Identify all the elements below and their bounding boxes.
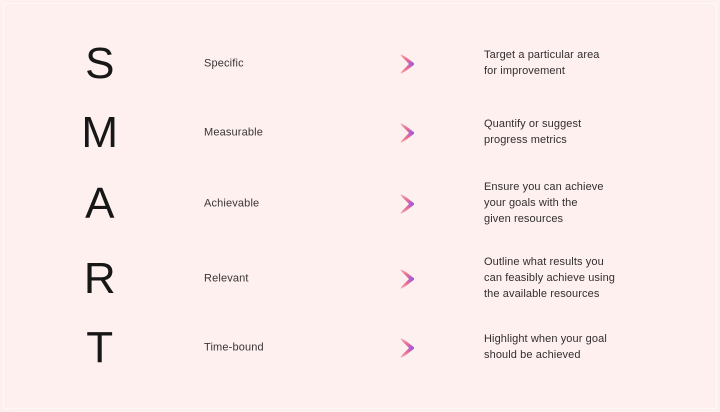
- description-line: the available resources: [484, 287, 664, 303]
- description-line: Target a particular area: [484, 48, 664, 64]
- smart-description-relevant: Outline what results youcan feasibly ach…: [484, 255, 664, 303]
- arrow-right-icon: [331, 335, 425, 361]
- description-line: given resources: [484, 212, 664, 228]
- smart-label-achievable: Achievable: [204, 197, 324, 212]
- description-line: Outline what results you: [484, 255, 664, 271]
- smart-rows: SSpecificTarget a particular areafor imp…: [0, 0, 720, 412]
- smart-label-measurable: Measurable: [204, 126, 324, 141]
- description-line: your goals with the: [484, 196, 664, 212]
- smart-letter-specific: S: [62, 42, 138, 86]
- smart-letter-relevant: R: [62, 257, 138, 301]
- smart-goals-diagram: SSpecificTarget a particular areafor imp…: [0, 0, 720, 412]
- smart-description-specific: Target a particular areafor improvement: [484, 48, 664, 80]
- smart-description-measurable: Quantify or suggestprogress metrics: [484, 117, 664, 149]
- smart-label-relevant: Relevant: [204, 272, 324, 287]
- smart-letter-achievable: A: [62, 182, 138, 226]
- description-line: should be achieved: [484, 348, 664, 364]
- smart-description-time-bound: Highlight when your goalshould be achiev…: [484, 332, 664, 364]
- arrow-right-icon: [331, 120, 425, 146]
- smart-label-time-bound: Time-bound: [204, 341, 324, 356]
- description-line: Highlight when your goal: [484, 332, 664, 348]
- smart-letter-measurable: M: [62, 111, 138, 155]
- description-line: progress metrics: [484, 133, 664, 149]
- smart-letter-time-bound: T: [62, 326, 138, 370]
- smart-label-specific: Specific: [204, 57, 324, 72]
- arrow-right-icon: [331, 191, 425, 217]
- description-line: Ensure you can achieve: [484, 180, 664, 196]
- description-line: for improvement: [484, 64, 664, 80]
- description-line: Quantify or suggest: [484, 117, 664, 133]
- smart-description-achievable: Ensure you can achieveyour goals with th…: [484, 180, 664, 228]
- description-line: can feasibly achieve using: [484, 271, 664, 287]
- arrow-right-icon: [331, 51, 425, 77]
- arrow-right-icon: [331, 266, 425, 292]
